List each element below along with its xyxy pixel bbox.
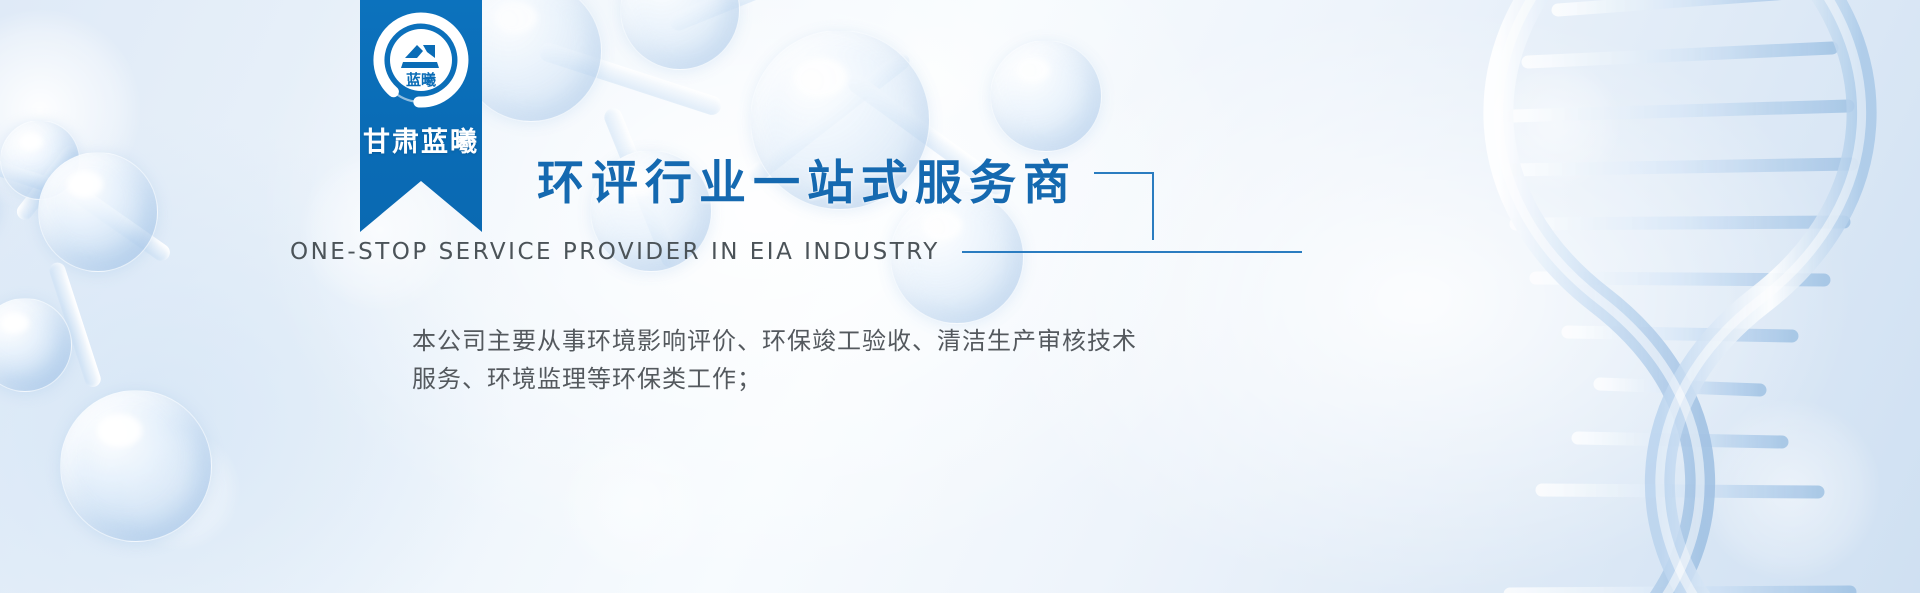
molecule-bond — [47, 261, 102, 390]
connector-rule-top — [1094, 172, 1154, 174]
molecule-atom — [990, 40, 1102, 152]
molecule-atom — [38, 152, 158, 272]
molecule-bond — [0, 155, 58, 194]
molecule-atom — [0, 298, 72, 392]
description-line: 服务、环境监理等环保类工作； — [412, 360, 1212, 398]
description-line: 本公司主要从事环境影响评价、环保竣工验收、清洁生产审核技术 — [412, 322, 1212, 360]
bokeh-light-icon — [560, 430, 710, 580]
bokeh-light-icon — [120, 430, 240, 550]
description-paragraph: 本公司主要从事环境影响评价、环保竣工验收、清洁生产审核技术 服务、环境监理等环保… — [412, 322, 1212, 398]
bokeh-light-icon — [1490, 60, 1620, 190]
bokeh-light-icon — [880, 20, 990, 130]
molecule-cluster-icon — [0, 60, 340, 480]
subtitle-english: ONE-STOP SERVICE PROVIDER IN EIA INDUSTR… — [290, 239, 940, 265]
molecule-bond — [14, 142, 82, 223]
dna-helix-icon — [1450, 0, 1920, 593]
connector-rule-vertical — [1152, 172, 1154, 240]
molecule-atom — [620, 0, 740, 70]
subtitle-row: ONE-STOP SERVICE PROVIDER IN EIA INDUSTR… — [290, 238, 1170, 266]
hero-banner: 蓝曦 甘肃蓝曦 环评行业一站式服务商 ONE-STOP SERVICE PROV… — [0, 0, 1920, 593]
logo-text: 蓝曦 — [406, 71, 436, 89]
molecule-bond — [65, 182, 173, 265]
company-short-name: 甘肃蓝曦 — [363, 120, 479, 159]
page-title: 环评行业一站式服务商 — [537, 144, 1077, 213]
molecule-atom — [60, 390, 212, 542]
molecule-bond — [537, 40, 724, 117]
molecule-atom — [0, 120, 80, 200]
bokeh-light-icon — [1700, 400, 1880, 580]
molecule-bond — [666, 0, 840, 33]
subtitle-rule — [962, 251, 1302, 253]
bokeh-light-icon — [0, 10, 140, 210]
lanxi-emblem-logo: 蓝曦 — [373, 12, 469, 108]
brand-ribbon: 蓝曦 甘肃蓝曦 — [360, 0, 482, 232]
